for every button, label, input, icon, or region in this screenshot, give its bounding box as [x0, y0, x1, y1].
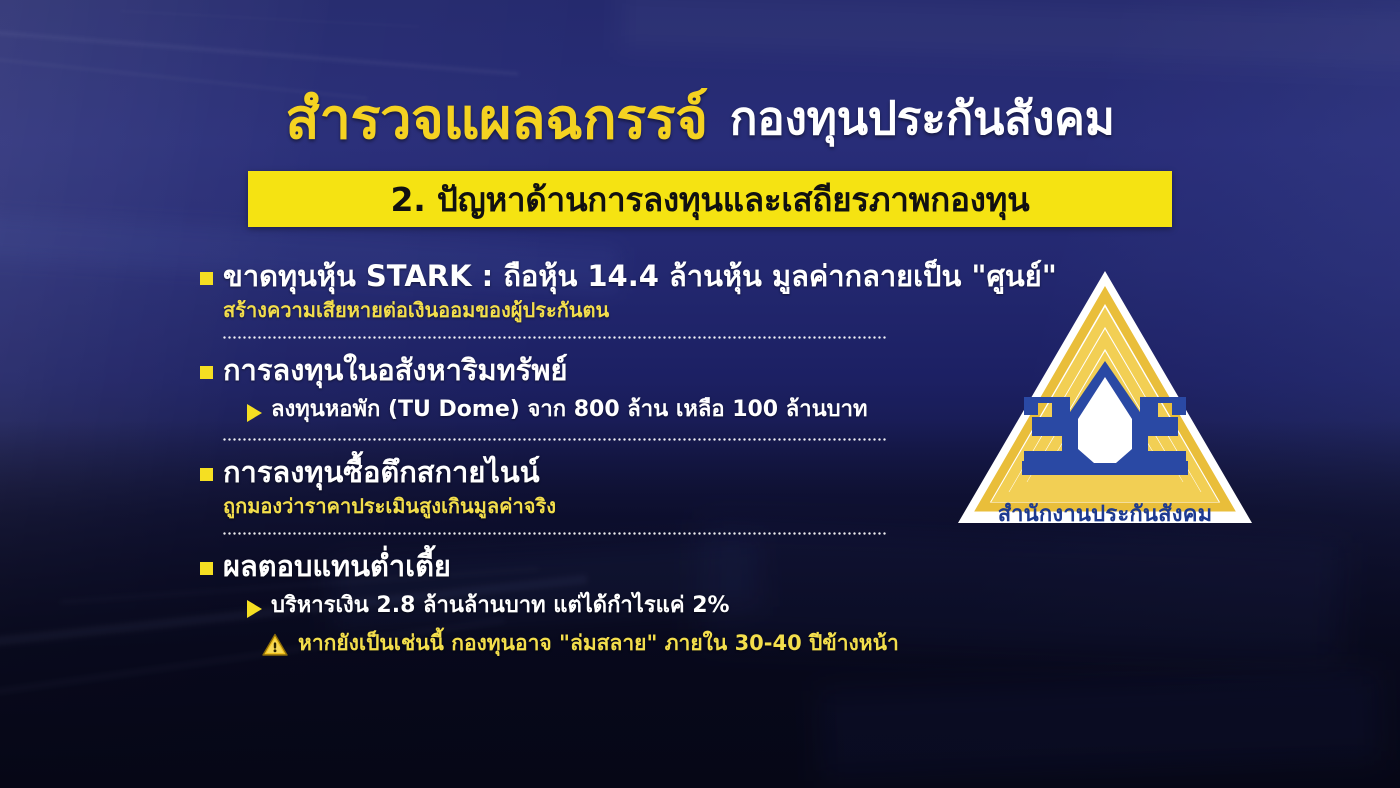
- social-security-office-logo: สำนักงานประกันสังคม: [952, 265, 1258, 537]
- bullet-heading: การลงทุนซื้อตึกสกายไนน์: [223, 454, 540, 491]
- infographic-slide: สำรวจแผลฉกรรจ์กองทุนประกันสังคม 2. ปัญหา…: [0, 0, 1400, 788]
- list-item: ผลตอบแทนต่ำเตี้ย บริหารเงิน 2.8 ล้านล้าน…: [200, 548, 890, 661]
- bullet-subtext: สร้างความเสียหายต่อเงินออมของผู้ประกันตน: [223, 297, 890, 323]
- section-banner: 2. ปัญหาด้านการลงทุนและเสถียรภาพกองทุน: [248, 171, 1172, 227]
- list-item: การลงทุนซื้อตึกสกายไนน์ ถูกมองว่าราคาประ…: [200, 454, 890, 519]
- square-bullet-icon: [200, 272, 213, 285]
- list-item: ขาดทุนหุ้น STARK : ถือหุ้น 14.4 ล้านหุ้น…: [200, 258, 890, 323]
- dotted-divider: [222, 336, 887, 339]
- dotted-divider: [222, 532, 887, 535]
- sub-bullet-row: ลงทุนหอพัก (TU Dome) จาก 800 ล้าน เหลือ …: [247, 396, 890, 425]
- triangle-bullet-icon: [247, 404, 262, 422]
- sub-bullet-text: บริหารเงิน 2.8 ล้านล้านบาท แต่ได้กำไรแค่…: [271, 592, 730, 621]
- bullet-heading-row: ขาดทุนหุ้น STARK : ถือหุ้น 14.4 ล้านหุ้น…: [200, 258, 890, 295]
- bullet-heading-row: การลงทุนในอสังหาริมทรัพย์: [200, 352, 890, 389]
- title-rest: กองทุนประกันสังคม: [730, 82, 1115, 155]
- list-item: การลงทุนในอสังหาริมทรัพย์ ลงทุนหอพัก (TU…: [200, 352, 890, 425]
- warning-text: หากยังเป็นเช่นนี้ กองทุนอาจ "ล่มสลาย" ภา…: [298, 630, 899, 657]
- bullet-heading-row: การลงทุนซื้อตึกสกายไนน์: [200, 454, 890, 491]
- logo-caption: สำนักงานประกันสังคม: [952, 496, 1258, 531]
- square-bullet-icon: [200, 366, 213, 379]
- page-title: สำรวจแผลฉกรรจ์กองทุนประกันสังคม: [0, 74, 1400, 163]
- warning-triangle-icon: [262, 633, 288, 661]
- sub-bullet-row: บริหารเงิน 2.8 ล้านล้านบาท แต่ได้กำไรแค่…: [247, 592, 890, 621]
- bullet-list: ขาดทุนหุ้น STARK : ถือหุ้น 14.4 ล้านหุ้น…: [200, 258, 890, 661]
- title-highlight: สำรวจแผลฉกรรจ์: [285, 74, 707, 163]
- bullet-heading: การลงทุนในอสังหาริมทรัพย์: [223, 352, 567, 389]
- dotted-divider: [222, 438, 887, 441]
- section-banner-label: 2. ปัญหาด้านการลงทุนและเสถียรภาพกองทุน: [390, 173, 1029, 226]
- square-bullet-icon: [200, 562, 213, 575]
- bullet-heading: ผลตอบแทนต่ำเตี้ย: [223, 548, 451, 585]
- square-bullet-icon: [200, 468, 213, 481]
- bullet-subtext: ถูกมองว่าราคาประเมินสูงเกินมูลค่าจริง: [223, 493, 890, 519]
- bullet-heading: ขาดทุนหุ้น STARK : ถือหุ้น 14.4 ล้านหุ้น…: [223, 258, 1057, 295]
- sub-bullet-text: ลงทุนหอพัก (TU Dome) จาก 800 ล้าน เหลือ …: [271, 396, 867, 425]
- bullet-heading-row: ผลตอบแทนต่ำเตี้ย: [200, 548, 890, 585]
- triangle-bullet-icon: [247, 600, 262, 618]
- warning-row: หากยังเป็นเช่นนี้ กองทุนอาจ "ล่มสลาย" ภา…: [262, 630, 890, 661]
